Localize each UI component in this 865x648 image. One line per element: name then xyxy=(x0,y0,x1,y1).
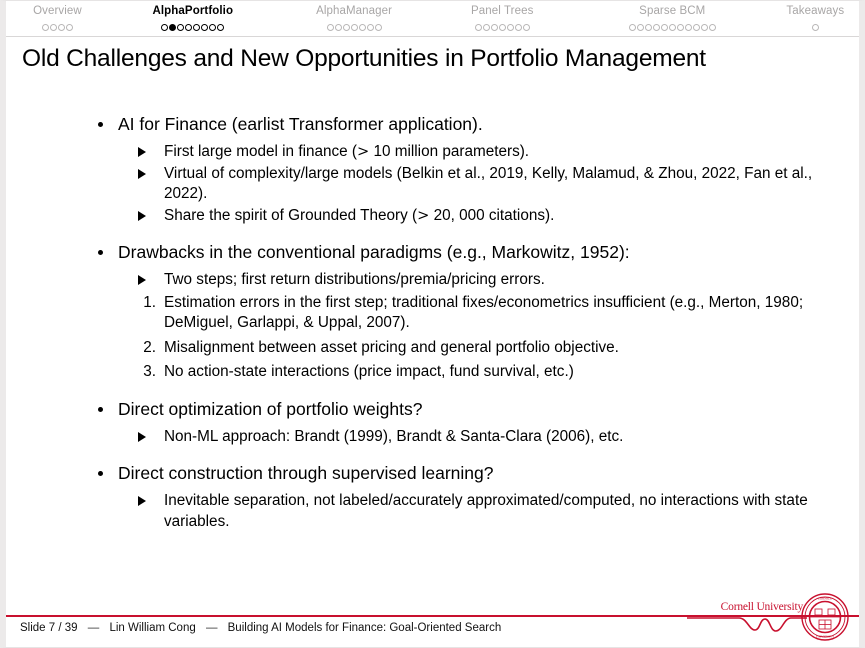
triangle-bullet-icon xyxy=(138,211,146,221)
nav-dot[interactable] xyxy=(343,24,350,31)
sub-bullet-text: Non-ML approach: Brandt (1999), Brandt &… xyxy=(164,428,623,445)
nav-section-label: AlphaPortfolio xyxy=(152,4,233,18)
nav-dot[interactable] xyxy=(475,24,482,31)
nav-section-label: Overview xyxy=(33,4,82,18)
sub-bullet-text: No action-state interactions (price impa… xyxy=(164,363,574,380)
nav-dot[interactable] xyxy=(201,24,208,31)
nav-dot[interactable] xyxy=(661,24,668,31)
page-title: Old Challenges and New Opportunities in … xyxy=(22,43,839,75)
nav-dot[interactable] xyxy=(185,24,192,31)
nav-dot[interactable] xyxy=(42,24,49,31)
svg-text:CORNELL: CORNELL xyxy=(818,596,832,600)
nav-slide-dots xyxy=(629,21,716,33)
nav-dot[interactable] xyxy=(367,24,374,31)
cornell-wordmark: Cornell University xyxy=(721,601,803,614)
bullet-heading: Direct construction through supervised l… xyxy=(94,462,829,485)
sub-bullet-item: Virtual of complexity/large models (Belk… xyxy=(94,164,829,205)
author-name: Lin William Cong xyxy=(109,622,195,634)
slide-footer: Slide 7 / 39 — Lin William Cong — Buildi… xyxy=(6,593,859,647)
nav-section-alphamanager[interactable]: AlphaManager xyxy=(277,4,432,33)
nav-slide-dots xyxy=(475,21,530,33)
sub-bullet-list: Two steps; first return distributions/pr… xyxy=(94,270,829,383)
list-number-marker: 2. xyxy=(132,338,156,359)
talk-title: Building AI Models for Finance: Goal-Ori… xyxy=(228,622,502,634)
slide-number: Slide 7 / 39 xyxy=(20,622,78,634)
nav-section-label: AlphaManager xyxy=(316,4,392,18)
nav-dot[interactable] xyxy=(351,24,358,31)
nav-dot[interactable] xyxy=(491,24,498,31)
triangle-bullet-icon xyxy=(138,496,146,506)
nav-dot[interactable] xyxy=(677,24,684,31)
nav-section-takeaways[interactable]: Takeaways xyxy=(772,4,859,33)
sub-bullet-text: Inevitable separation, not labeled/accur… xyxy=(164,492,808,530)
cornell-seal-icon: CORNELL UNIVERSITY xyxy=(801,593,849,641)
nav-dot[interactable] xyxy=(483,24,490,31)
sub-bullet-list: Non-ML approach: Brandt (1999), Brandt &… xyxy=(94,427,829,448)
nav-dot[interactable] xyxy=(335,24,342,31)
nav-section-panel-trees[interactable]: Panel Trees xyxy=(432,4,573,33)
triangle-bullet-icon xyxy=(138,169,146,179)
list-number-marker: 1. xyxy=(132,293,156,314)
nav-section-overview[interactable]: Overview xyxy=(6,4,109,33)
section-navigation-bar: OverviewAlphaPortfolioAlphaManagerPanel … xyxy=(6,1,859,37)
content-block: Drawbacks in the conventional paradigms … xyxy=(94,241,829,383)
nav-dot[interactable] xyxy=(701,24,708,31)
bullet-heading-text: Direct optimization of portfolio weights… xyxy=(118,399,422,419)
nav-dot[interactable] xyxy=(209,24,216,31)
nav-dot[interactable] xyxy=(499,24,506,31)
bullet-dot-icon xyxy=(98,471,103,476)
sub-bullet-item: Non-ML approach: Brandt (1999), Brandt &… xyxy=(94,427,829,448)
cornell-university-logo: Cornell University CORNELL UNIVERSITY xyxy=(687,591,855,647)
nav-section-label: Takeaways xyxy=(786,4,844,18)
nav-dot[interactable] xyxy=(177,24,184,31)
sub-bullet-text: Estimation errors in the first step; tra… xyxy=(164,294,803,332)
bullet-heading-text: Direct construction through supervised l… xyxy=(118,463,493,483)
bullet-dot-icon xyxy=(98,407,103,412)
nav-section-label: Panel Trees xyxy=(471,4,533,18)
nav-dot[interactable] xyxy=(217,24,224,31)
triangle-bullet-icon xyxy=(138,432,146,442)
nav-dot[interactable] xyxy=(193,24,200,31)
content-block: Direct optimization of portfolio weights… xyxy=(94,398,829,448)
triangle-bullet-icon xyxy=(138,147,146,157)
sub-bullet-item: 2.Misalignment between asset pricing and… xyxy=(94,338,829,359)
nav-dot[interactable] xyxy=(709,24,716,31)
sub-bullet-text: Two steps; first return distributions/pr… xyxy=(164,271,545,288)
sub-bullet-text: Virtual of complexity/large models (Belk… xyxy=(164,165,812,203)
footer-caption: Slide 7 / 39 — Lin William Cong — Buildi… xyxy=(20,620,501,636)
nav-slide-dots xyxy=(812,21,819,33)
content-block: AI for Finance (earlist Transformer appl… xyxy=(94,113,829,226)
nav-slide-dots xyxy=(42,21,73,33)
nav-section-alphaportfolio[interactable]: AlphaPortfolio xyxy=(109,4,277,33)
nav-dot[interactable] xyxy=(50,24,57,31)
svg-text:UNIVERSITY: UNIVERSITY xyxy=(816,635,835,639)
sub-bullet-item: Two steps; first return distributions/pr… xyxy=(94,270,829,291)
nav-slide-dots xyxy=(161,21,224,33)
nav-dot[interactable] xyxy=(812,24,819,31)
nav-dot[interactable] xyxy=(629,24,636,31)
nav-dot[interactable] xyxy=(161,24,168,31)
slide-content: AI for Finance (earlist Transformer appl… xyxy=(6,113,859,591)
nav-section-sparse-bcm[interactable]: Sparse BCM xyxy=(573,4,772,33)
bullet-heading: AI for Finance (earlist Transformer appl… xyxy=(94,113,829,136)
nav-dot[interactable] xyxy=(685,24,692,31)
nav-dot[interactable] xyxy=(375,24,382,31)
bullet-dot-icon xyxy=(98,122,103,127)
sub-bullet-item: Inevitable separation, not labeled/accur… xyxy=(94,491,829,532)
sub-bullet-list: Inevitable separation, not labeled/accur… xyxy=(94,491,829,532)
nav-dot-current[interactable] xyxy=(169,24,176,31)
nav-dot[interactable] xyxy=(327,24,334,31)
nav-dot[interactable] xyxy=(507,24,514,31)
nav-dot[interactable] xyxy=(359,24,366,31)
sub-bullet-list: First large model in finance (> 10 milli… xyxy=(94,142,829,226)
sub-bullet-item: Share the spirit of Grounded Theory (> 2… xyxy=(94,206,829,227)
nav-dot[interactable] xyxy=(515,24,522,31)
nav-dot[interactable] xyxy=(637,24,644,31)
nav-dot[interactable] xyxy=(645,24,652,31)
sub-bullet-item: First large model in finance (> 10 milli… xyxy=(94,142,829,163)
bullet-dot-icon xyxy=(98,250,103,255)
nav-dot[interactable] xyxy=(58,24,65,31)
sub-bullet-item: 1.Estimation errors in the first step; t… xyxy=(94,293,829,334)
nav-dot[interactable] xyxy=(653,24,660,31)
sub-bullet-text: First large model in finance (> 10 milli… xyxy=(164,143,529,160)
triangle-bullet-icon xyxy=(138,275,146,285)
list-number-marker: 3. xyxy=(132,362,156,383)
nav-dot[interactable] xyxy=(523,24,530,31)
sub-bullet-text: Share the spirit of Grounded Theory (> 2… xyxy=(164,207,554,224)
nav-dot[interactable] xyxy=(669,24,676,31)
sub-bullet-text: Misalignment between asset pricing and g… xyxy=(164,339,619,356)
bullet-heading: Drawbacks in the conventional paradigms … xyxy=(94,241,829,264)
nav-section-label: Sparse BCM xyxy=(639,4,705,18)
bullet-heading-text: Drawbacks in the conventional paradigms … xyxy=(118,242,630,262)
footer-separator-2: — xyxy=(206,622,218,634)
sub-bullet-item: 3.No action-state interactions (price im… xyxy=(94,362,829,383)
nav-slide-dots xyxy=(327,21,382,33)
nav-dot[interactable] xyxy=(66,24,73,31)
slide-canvas: OverviewAlphaPortfolioAlphaManagerPanel … xyxy=(0,0,865,648)
content-block: Direct construction through supervised l… xyxy=(94,462,829,532)
footer-separator-1: — xyxy=(88,622,100,634)
nav-dot[interactable] xyxy=(693,24,700,31)
bullet-heading: Direct optimization of portfolio weights… xyxy=(94,398,829,421)
bullet-heading-text: AI for Finance (earlist Transformer appl… xyxy=(118,114,483,134)
